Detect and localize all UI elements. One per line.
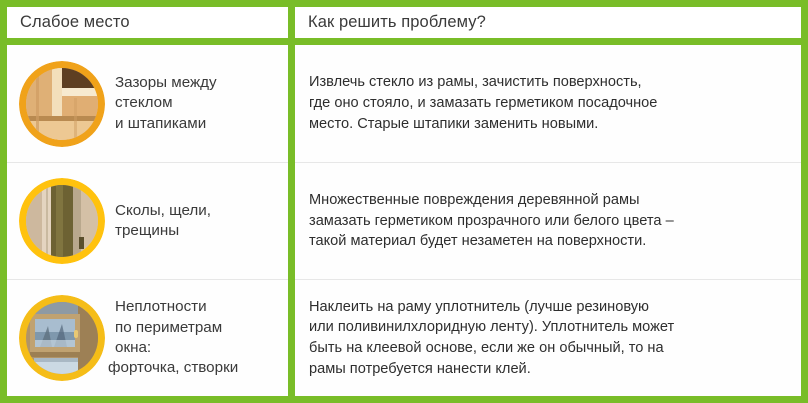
solution-text: Множественные повреждения деревянной рам…	[309, 190, 674, 252]
problem-label: Зазоры между стеклом и штапиками	[105, 73, 288, 134]
badge-chips-gaps-cracks	[19, 178, 105, 264]
problem-label-line: и штапиками	[115, 114, 288, 134]
problem-label-line: форточка, створки	[108, 358, 288, 378]
table-row: Наклеить на раму уплотнитель (лучше рези…	[295, 279, 801, 396]
column-header-solution-label: Как решить проблему?	[308, 13, 486, 32]
wooden-window-frame-corner-photo	[26, 68, 98, 140]
problem-label-line: Сколы, щели,	[115, 201, 288, 221]
solution-text-line: рамы потребуется нанести клей.	[309, 359, 674, 380]
solution-text-line: Множественные повреждения деревянной рам…	[309, 190, 674, 211]
solution-text-line: Наклеить на раму уплотнитель (лучше рези…	[309, 297, 674, 318]
problem-label: Сколы, щели, трещины	[105, 201, 288, 242]
problem-label-line: Неплотности	[115, 297, 288, 317]
table-border-right	[801, 0, 808, 403]
table-border-top	[0, 0, 808, 7]
badge-glazing-bead-gaps	[19, 61, 105, 147]
column-header-solution: Как решить проблему?	[295, 7, 801, 38]
solution-text-line: такой материал будет незаметен на поверх…	[309, 231, 674, 252]
column-header-problem: Слабое место	[7, 7, 288, 38]
solution-column: Извлечь стекло из рамы, зачистить поверх…	[295, 45, 801, 396]
problem-label-line: по периметрам	[115, 318, 288, 338]
problem-label: Неплотности по периметрам окна: форточка…	[105, 297, 288, 378]
problem-label-line: стеклом	[115, 93, 288, 113]
solution-text: Извлечь стекло из рамы, зачистить поверх…	[309, 72, 657, 134]
solution-text-line: Извлечь стекло из рамы, зачистить поверх…	[309, 72, 657, 93]
badge-perimeter-leaks	[19, 295, 105, 381]
table-column-separator	[288, 0, 295, 403]
table-row: Сколы, щели, трещины	[7, 162, 288, 279]
problem-label-line: Зазоры между	[115, 73, 288, 93]
solution-text-line: где оно стояло, и замазать герметиком по…	[309, 93, 657, 114]
problem-label-line: окна:	[115, 338, 288, 358]
solution-text-line: место. Старые штапики заменить новыми.	[309, 114, 657, 135]
table-row: Зазоры между стеклом и штапиками	[7, 45, 288, 162]
solution-text-line: или поливинилхлоридную ленту). Уплотните…	[309, 317, 674, 338]
problem-column: Зазоры между стеклом и штапиками	[7, 45, 288, 396]
table-border-bottom	[0, 396, 808, 403]
solution-text: Наклеить на раму уплотнитель (лучше рези…	[309, 297, 674, 380]
solution-text-line: замазать герметиком прозрачного или бело…	[309, 211, 674, 232]
window-transom-sash-photo	[26, 302, 98, 374]
cracked-wood-surface-photo	[26, 185, 98, 257]
table-border-left	[0, 0, 7, 403]
problem-label-line: трещины	[115, 221, 288, 241]
comparison-table: Слабое место Как решить проблему?	[0, 0, 808, 403]
table-header-separator	[0, 38, 808, 45]
solution-text-line: быть на клеевой основе, если же он обычн…	[309, 338, 674, 359]
column-header-problem-label: Слабое место	[20, 13, 130, 32]
table-row: Извлечь стекло из рамы, зачистить поверх…	[295, 45, 801, 162]
table-row: Множественные повреждения деревянной рам…	[295, 162, 801, 279]
table-row: Неплотности по периметрам окна: форточка…	[7, 279, 288, 396]
